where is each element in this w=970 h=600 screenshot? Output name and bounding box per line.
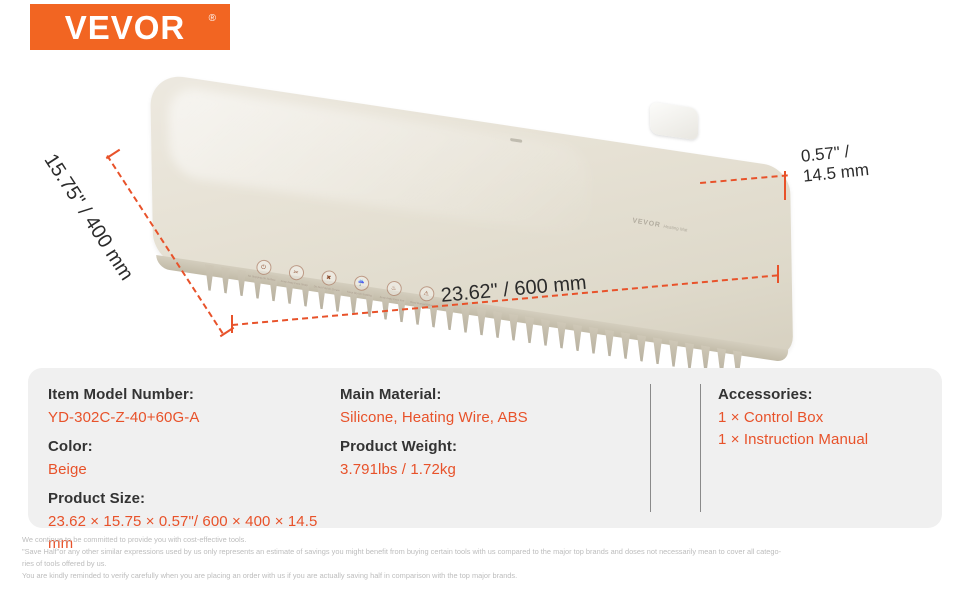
spec-divider-1 [650, 384, 651, 512]
mat-tooth [637, 335, 646, 362]
warning-icon-glyph: ⚠ [418, 285, 435, 302]
product-spec-sheet: VEVOR ® VEVORHeating Mat ⏻No Stepping On… [0, 0, 970, 600]
no-fold-icon-glyph: ✖ [320, 269, 337, 286]
mat-tooth [237, 269, 246, 296]
thickness-dimension-label: 0.57" / 14.5 mm [800, 140, 870, 187]
mat-tooth [669, 340, 678, 367]
product-size-label: Product Size: [48, 488, 338, 511]
mat-tooth [685, 343, 694, 370]
logo-text: VEVOR [65, 11, 196, 44]
spec-column-1: Item Model Number: YD-302C-Z-40+60G-A Co… [48, 384, 338, 556]
product-illustration: VEVORHeating Mat ⏻No Stepping On Surface… [0, 50, 970, 350]
specification-panel: Item Model Number: YD-302C-Z-40+60G-A Co… [28, 368, 942, 528]
mat-tooth [589, 327, 598, 354]
no-flame-icon-glyph: ♨ [385, 280, 402, 297]
no-flame-icon: ♨Keep Away From Fire [380, 279, 407, 302]
length-dimension-tick-right [777, 265, 779, 283]
item-model-number-value: YD-302C-Z-40+60G-A [48, 407, 338, 430]
color-value: Beige [48, 459, 338, 482]
mat-connector-tab [650, 102, 699, 141]
accessory-item-control-box: 1 × Control Box [718, 407, 928, 430]
no-water-icon: ☔Keep Dry No Soaking [347, 274, 374, 297]
mat-tooth [557, 322, 566, 349]
power-icon-glyph: ⏻ [255, 259, 272, 276]
no-sharp-objects-icon-glyph: ✂ [287, 264, 304, 281]
product-weight-value: 3.791lbs / 1.72kg [340, 459, 640, 482]
mat-tooth [477, 309, 486, 336]
main-material-label: Main Material: [340, 384, 640, 407]
disclaimer-line-4: You are kindly reminded to verify carefu… [22, 570, 952, 582]
spec-column-2: Main Material: Silicone, Heating Wire, A… [340, 384, 640, 481]
registered-trademark-symbol: ® [209, 13, 216, 24]
disclaimer-line-3: ries of tools offered by us. [22, 558, 952, 570]
vevor-logo: VEVOR ® [30, 4, 230, 50]
thickness-dimension-tick-bottom [784, 186, 786, 200]
no-sharp-objects-icon: ✂Keep Away From Sharp [282, 263, 309, 286]
accessory-item-instruction-manual: 1 × Instruction Manual [718, 429, 928, 452]
product-weight-label: Product Weight: [340, 436, 640, 459]
mat-tooth [573, 324, 582, 351]
mat-tooth [621, 332, 630, 359]
no-fold-icon: ✖Do Not Fold Or Crease [315, 269, 342, 292]
mat-tooth [461, 306, 470, 333]
length-dimension-tick-left [231, 315, 233, 333]
color-label: Color: [48, 436, 338, 459]
mat-tooth [653, 337, 662, 364]
mat-tooth [541, 319, 550, 346]
accessories-label: Accessories: [718, 384, 928, 407]
warning-icon: ⚠Read Manual Before Use [413, 284, 440, 307]
disclaimer-text: We continue to be committed to provide y… [22, 534, 952, 582]
disclaimer-line-1: We continue to be committed to provide y… [22, 534, 952, 546]
spec-column-3: Accessories: 1 × Control Box 1 × Instruc… [718, 384, 928, 452]
mat-tooth [605, 330, 614, 357]
power-icon: ⏻No Stepping On Surface [250, 258, 277, 281]
depth-dimension-label: 15.75" / 400 mm [39, 150, 138, 285]
no-water-icon-glyph: ☔ [353, 275, 370, 292]
disclaimer-line-2: "Save Half"or any other similar expressi… [22, 546, 952, 558]
mat-tooth [509, 314, 518, 341]
item-model-number-label: Item Model Number: [48, 384, 338, 407]
main-material-value: Silicone, Heating Wire, ABS [340, 407, 640, 430]
mat-tooth [525, 316, 534, 343]
spec-divider-2 [700, 384, 701, 512]
mat-tooth [221, 267, 230, 294]
thickness-dimension-tick-top [784, 171, 786, 186]
mat-tooth [205, 264, 214, 291]
mat-tooth [493, 311, 502, 338]
